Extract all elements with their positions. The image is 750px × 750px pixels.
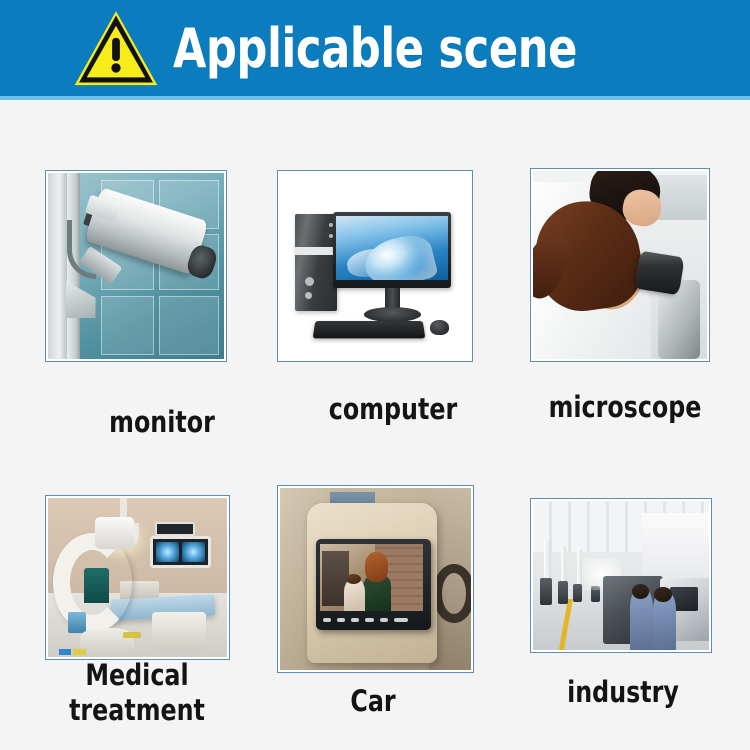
scene-label-medical-treatment: Medical treatment [48,658,227,729]
applicable-scene-page: Applicable scene [0,0,750,750]
scene-label-microscope: microscope [523,390,728,425]
scene-grid: monitor [0,100,750,750]
scene-label-computer: computer [282,392,503,427]
scene-label-monitor: monitor [55,405,268,440]
page-header: Applicable scene [0,0,750,96]
warning-triangle-icon [73,9,159,89]
scene-photo-microscope [530,168,710,362]
page-title: Applicable scene [173,22,577,76]
scene-label-car: Car [282,684,464,719]
scene-photo-monitor [45,170,227,362]
scene-photo-medical-treatment [45,495,230,660]
scene-label-medical-line2: treatment [48,693,227,728]
scene-label-industry: industry [532,675,714,710]
car-headrest-monitor-photo [280,488,471,670]
scene-photo-computer [277,170,473,362]
scene-photo-car [277,485,474,673]
desktop-computer-photo [280,173,470,359]
factory-floor-photo [533,501,709,650]
operating-room-photo [48,498,227,657]
microscope-lab-photo [533,171,707,359]
scene-label-medical-line1: Medical [48,658,227,693]
scene-photo-industry [530,498,712,653]
cctv-camera-photo [48,173,224,359]
